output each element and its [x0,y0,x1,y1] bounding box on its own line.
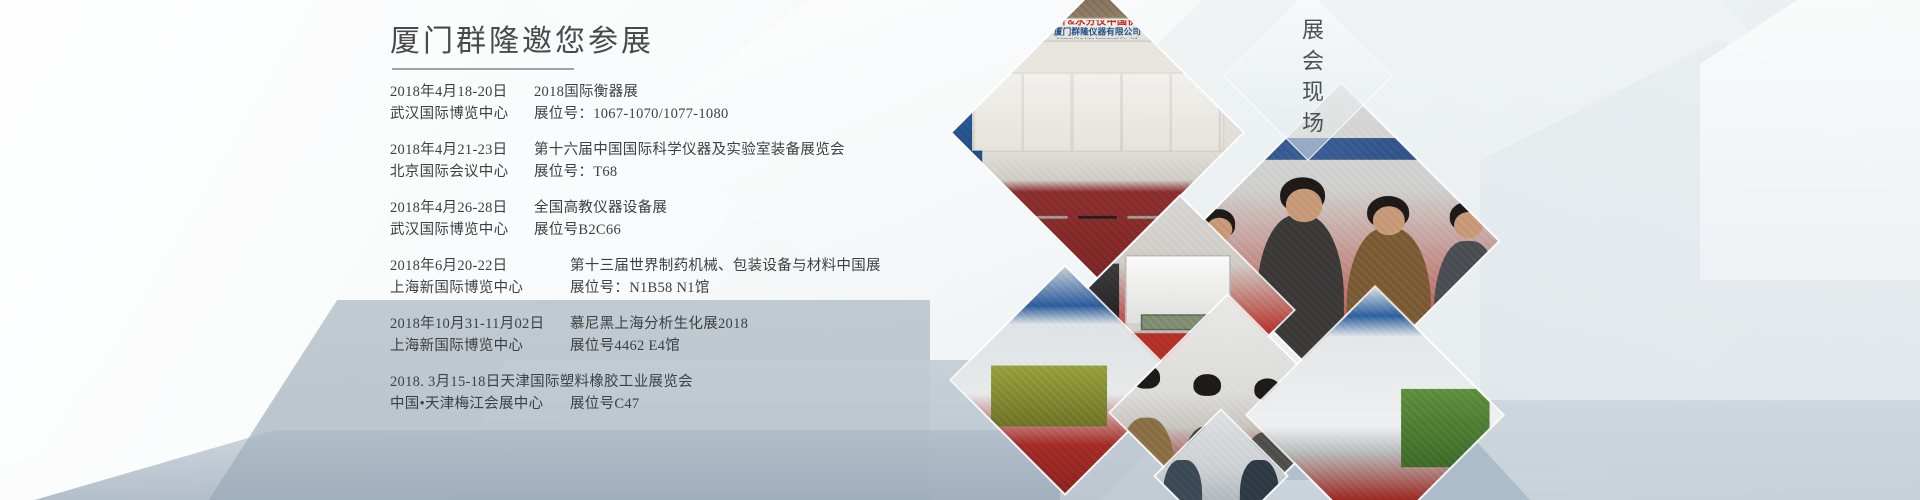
event-venue: 中国•天津梅江会展中心 [390,393,558,415]
title-underline-rule [392,68,574,70]
exhibition-banner: 厦门群隆邀您参展 2018年4月18-20日 2018国际衡器展 武汉国际博览中… [0,0,1920,500]
event-booth: 展位号C47 [558,393,639,415]
exhibition-schedule-panel: 厦门群隆邀您参展 2018年4月18-20日 2018国际衡器展 武汉国际博览中… [390,22,970,482]
event-name: 2018国际衡器展 [522,81,638,103]
event-name: 全国高教仪器设备展 [522,197,667,219]
event-row-secondary: 上海新国际博览中心 展位号4462 E4馆 [390,335,970,357]
event-date: 2018年6月20-22日 [390,255,558,277]
event-row-secondary: 中国•天津梅江会展中心 展位号C47 [390,393,970,415]
event-row-primary: 2018年4月18-20日 2018国际衡器展 [390,81,970,103]
event-date: 2018. 3月15-18日天津国际塑料橡胶工业展览会 [390,371,693,393]
event-venue: 武汉国际博览中心 [390,103,522,125]
event-booth: 展位号：1067-1070/1077-1080 [522,103,729,125]
event-date: 2018年4月26-28日 [390,197,522,219]
event-row-primary: 2018年10月31-11月02日 慕尼黑上海分析生化展2018 [390,313,970,335]
event-row-primary: 2018年4月26-28日 全国高教仪器设备展 [390,197,970,219]
event-row-primary: 2018年6月20-22日 第十三届世界制药机械、包装设备与材料中国展 [390,255,970,277]
event-venue: 上海新国际博览中心 [390,277,558,299]
event-entry-2: 2018年4月21-23日 第十六届中国国际科学仪器及实验室装备展览会 北京国际… [390,139,970,184]
event-date: 2018年10月31-11月02日 [390,313,558,335]
event-name: 第十三届世界制药机械、包装设备与材料中国展 [558,255,881,277]
event-entry-4: 2018年6月20-22日 第十三届世界制药机械、包装设备与材料中国展 上海新国… [390,255,970,300]
event-name: 第十六届中国国际科学仪器及实验室装备展览会 [522,139,845,161]
background-polygon-7 [1700,0,1920,280]
event-row-secondary: 上海新国际博览中心 展位号：N1B58 N1馆 [390,277,970,299]
event-name: 慕尼黑上海分析生化展2018 [558,313,748,335]
event-venue: 北京国际会议中心 [390,161,522,183]
event-date: 2018年4月21-23日 [390,139,522,161]
event-booth: 展位号4462 E4馆 [558,335,680,357]
event-entry-6: 2018. 3月15-18日天津国际塑料橡胶工业展览会 中国•天津梅江会展中心 … [390,371,970,416]
event-row-secondary: 武汉国际博览中心 展位号：1067-1070/1077-1080 [390,103,970,125]
event-entry-3: 2018年4月26-28日 全国高教仪器设备展 武汉国际博览中心 展位号B2C6… [390,197,970,242]
event-entry-1: 2018年4月18-20日 2018国际衡器展 武汉国际博览中心 展位号：106… [390,81,970,126]
event-row-primary: 2018年4月21-23日 第十六届中国国际科学仪器及实验室装备展览会 [390,139,970,161]
event-booth: 展位号：N1B58 N1馆 [558,277,710,299]
event-booth: 展位号B2C66 [522,219,621,241]
vertical-label-exhibition-site: 展会现场 [1295,18,1327,142]
page-title: 厦门群隆邀您参展 [390,22,970,61]
event-entry-5: 2018年10月31-11月02日 慕尼黑上海分析生化展2018 上海新国际博览… [390,313,970,358]
event-row-primary: 2018. 3月15-18日天津国际塑料橡胶工业展览会 [390,371,970,393]
event-row-secondary: 武汉国际博览中心 展位号B2C66 [390,219,970,241]
event-row-secondary: 北京国际会议中心 展位号：T68 [390,161,970,183]
event-venue: 上海新国际博览中心 [390,335,558,357]
instrument-unit [979,216,1019,219]
event-booth: 展位号：T68 [522,161,617,183]
event-venue: 武汉国际博览中心 [390,219,522,241]
event-date: 2018年4月18-20日 [390,81,522,103]
